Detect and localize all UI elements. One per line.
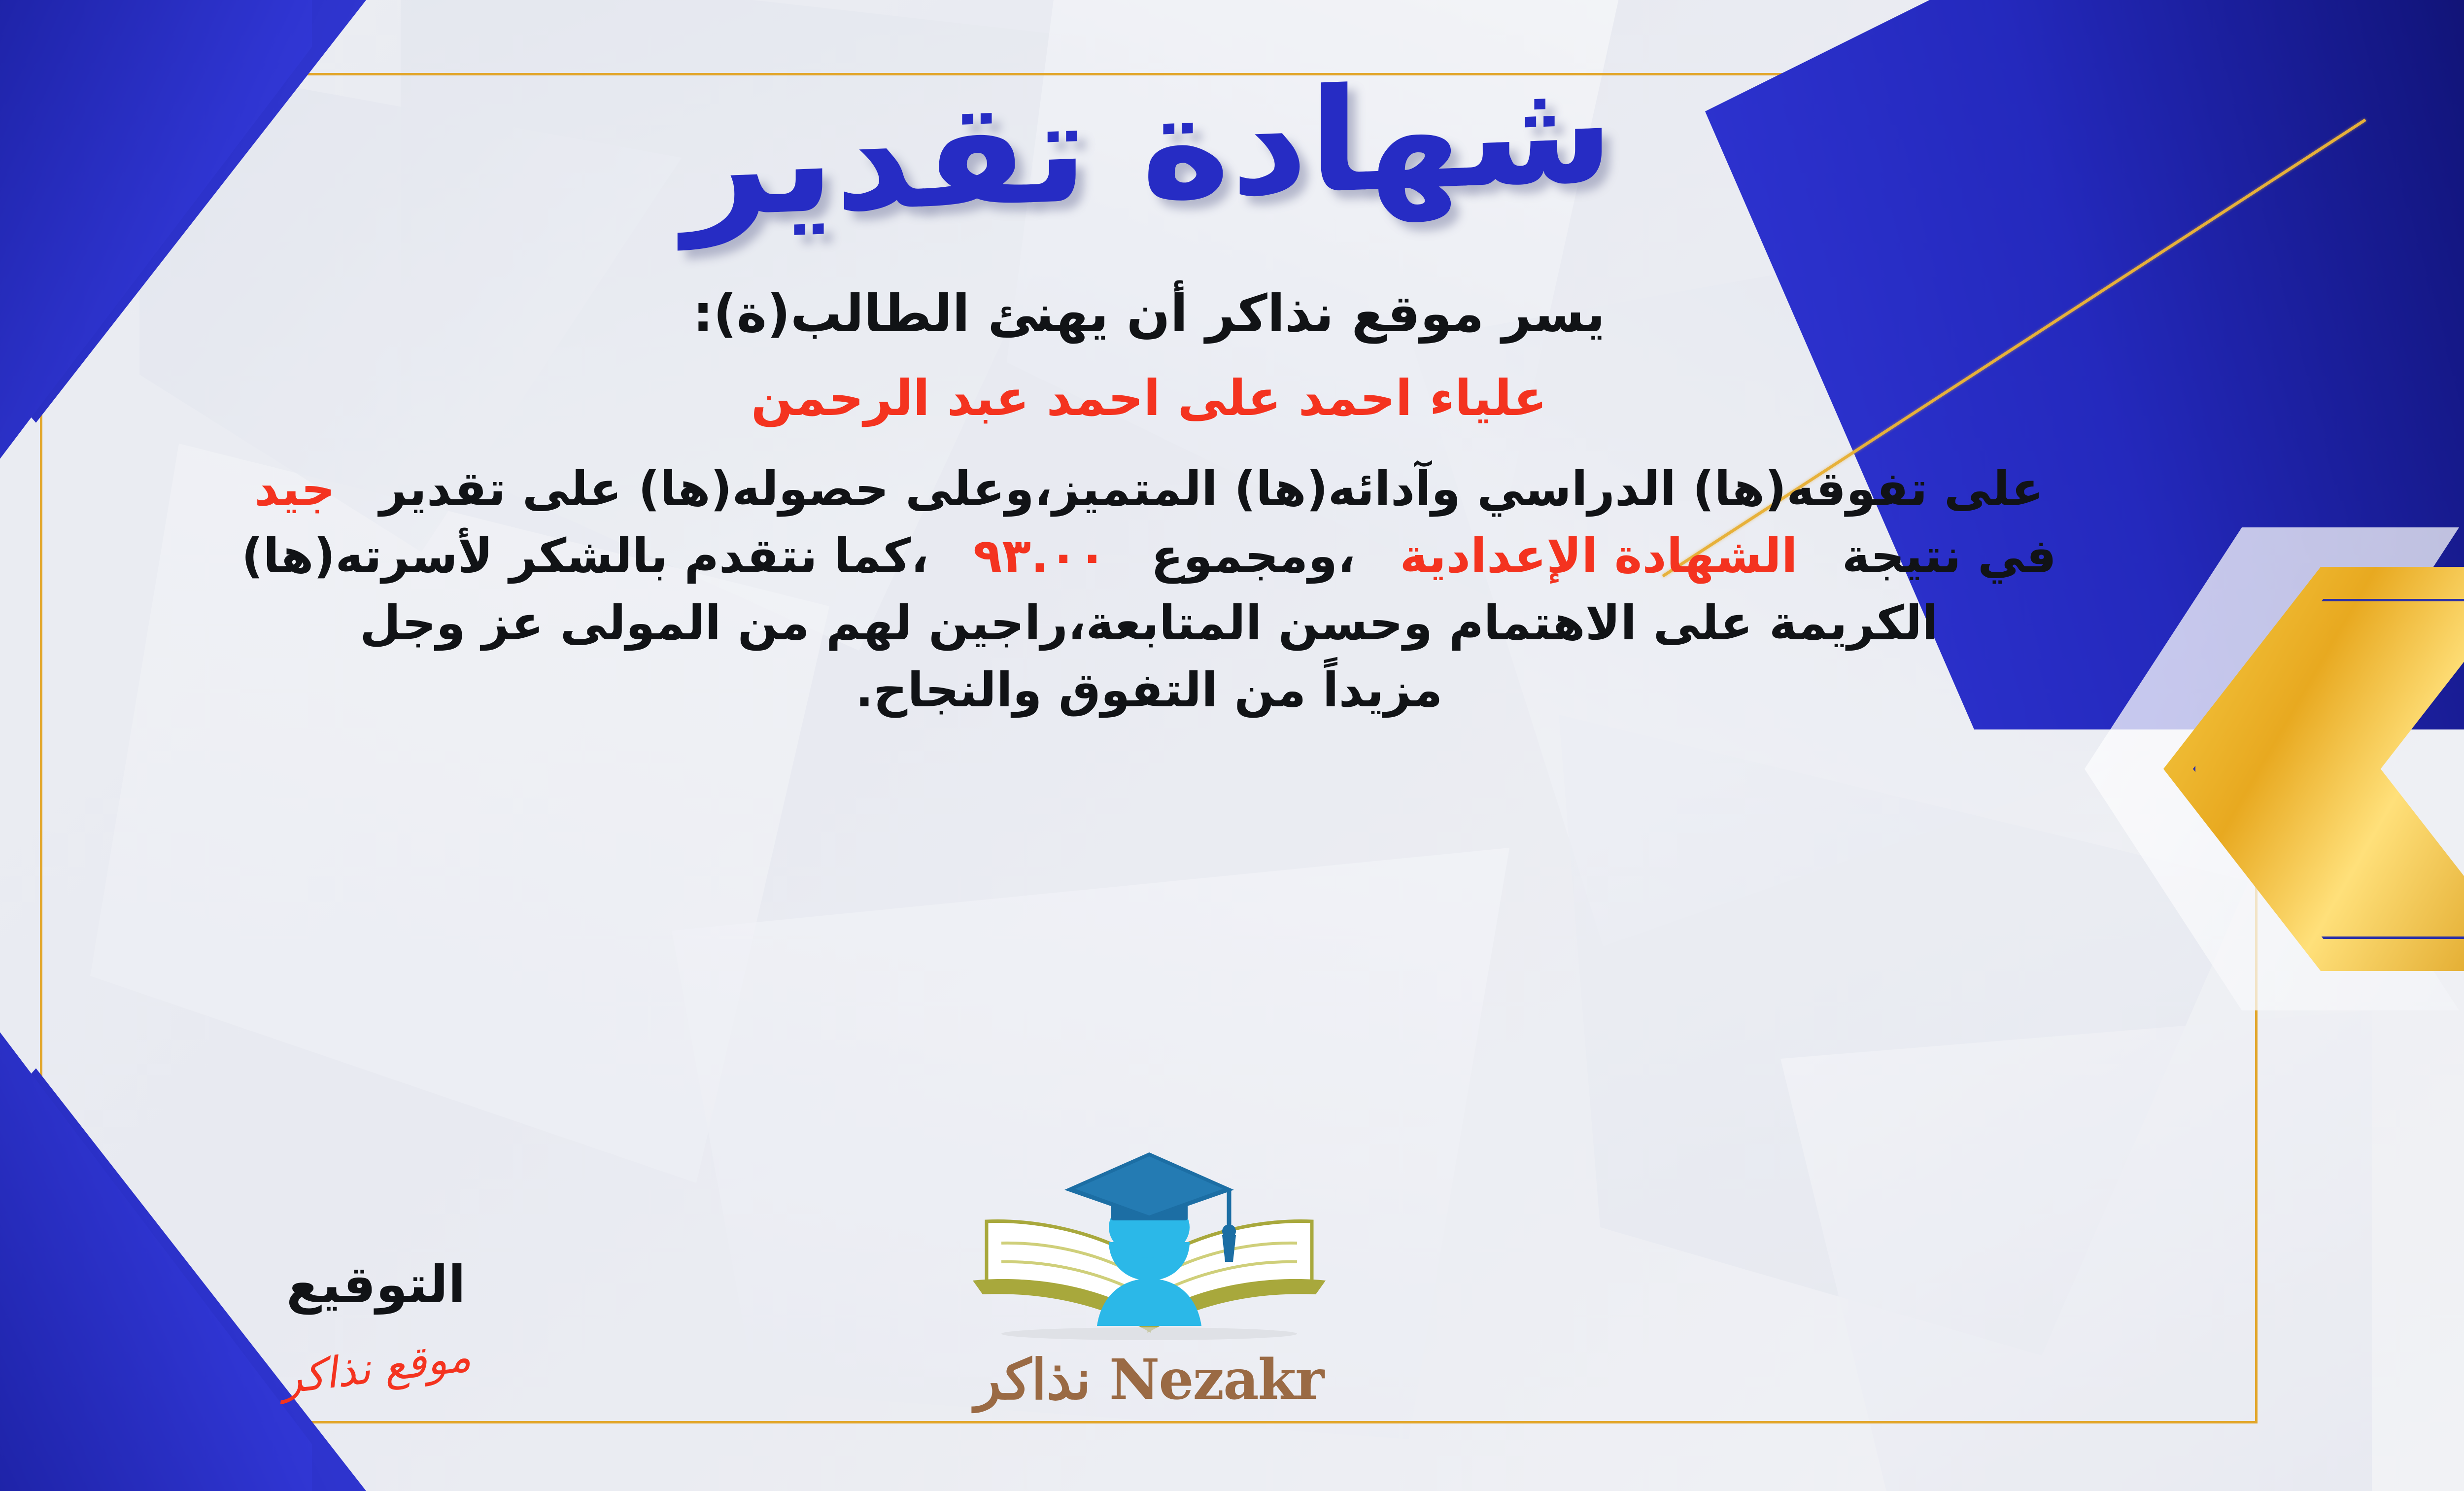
certificate-content: شهادة تقدير يسر موقع نذاكر أن يهنئ الطال… [0, 0, 2464, 1491]
citation-line-1-text: على تفوقه(ها) الدراسي وآدائه(ها) المتميز… [379, 461, 2044, 517]
student-name: علياء احمد على احمد عبد الرحمن [751, 369, 1547, 427]
total-label: ،ومجموع [1151, 528, 1356, 584]
grade-value: جيد [254, 461, 335, 517]
citation-line-2: في نتيجةالشهادة الإعدادية،ومجموع٩٣.٠٠،كم… [119, 522, 2179, 589]
citation-line-3: الكريمة على الاهتمام وحسن المتابعة،راجين… [119, 589, 2179, 657]
certificate-title: شهادة تقدير [684, 56, 1614, 242]
citation-line-4: مزيداً من التفوق والنجاح. [119, 657, 2179, 724]
intro-line: يسر موقع نذاكر أن يهنئ الطالب(ة): [693, 283, 1605, 344]
certificate-type: الشهادة الإعدادية [1400, 528, 1797, 584]
thanks-text: ،كما نتقدم بالشكر لأسرته(ها) [241, 528, 929, 584]
citation-paragraph: على تفوقه(ها) الدراسي وآدائه(ها) المتميز… [119, 455, 2179, 724]
total-score: ٩٣.٠٠ [973, 528, 1107, 584]
result-label: في نتيجة [1842, 528, 2056, 584]
citation-line-1: على تفوقه(ها) الدراسي وآدائه(ها) المتميز… [119, 455, 2179, 522]
certificate-canvas: شهادة تقدير يسر موقع نذاكر أن يهنئ الطال… [0, 0, 2464, 1491]
